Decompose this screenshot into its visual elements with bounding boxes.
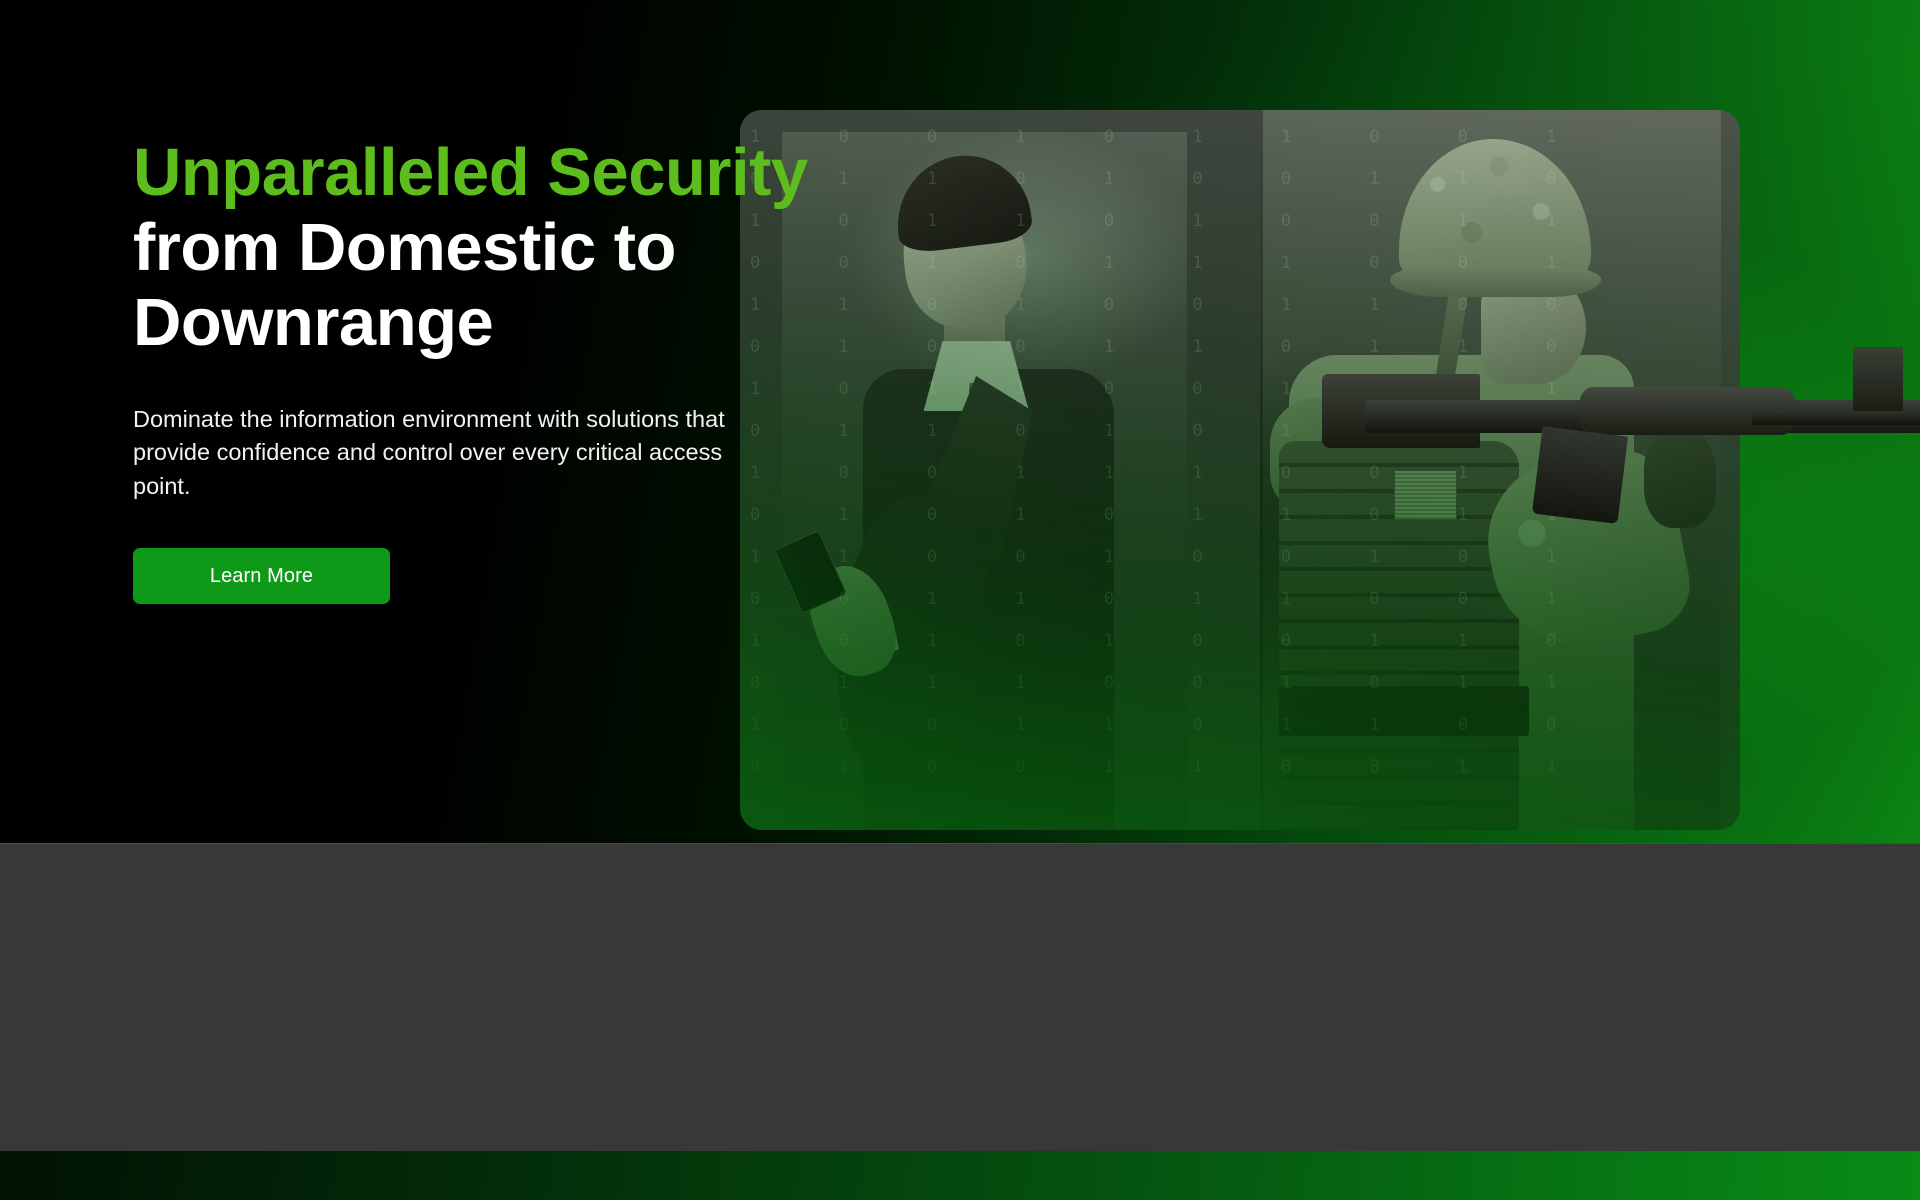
headline-line-3: Downrange (133, 285, 493, 360)
trusted-by-section: Trusted By U.S. ARMY (0, 843, 1920, 1151)
landing-page: 1 0 0 1 0 1 1 0 0 1 0 1 1 0 1 0 0 1 1 0 … (0, 0, 1920, 1200)
headline-accent-line: Unparalleled Security (133, 135, 983, 210)
footer-gradient-strip (0, 1151, 1920, 1200)
hero-subcopy: Dominate the information environment wit… (133, 403, 733, 503)
learn-more-button[interactable]: Learn More (133, 548, 390, 604)
hero-copy: Unparalleled Security from Domestic to D… (133, 135, 983, 604)
hero-section: 1 0 0 1 0 1 1 0 0 1 0 1 1 0 1 0 0 1 1 0 … (0, 0, 1920, 843)
page-title: Unparalleled Security from Domestic to D… (133, 135, 983, 360)
rifle-prop (1322, 303, 1920, 522)
headline-line-2: from Domestic to (133, 210, 676, 285)
